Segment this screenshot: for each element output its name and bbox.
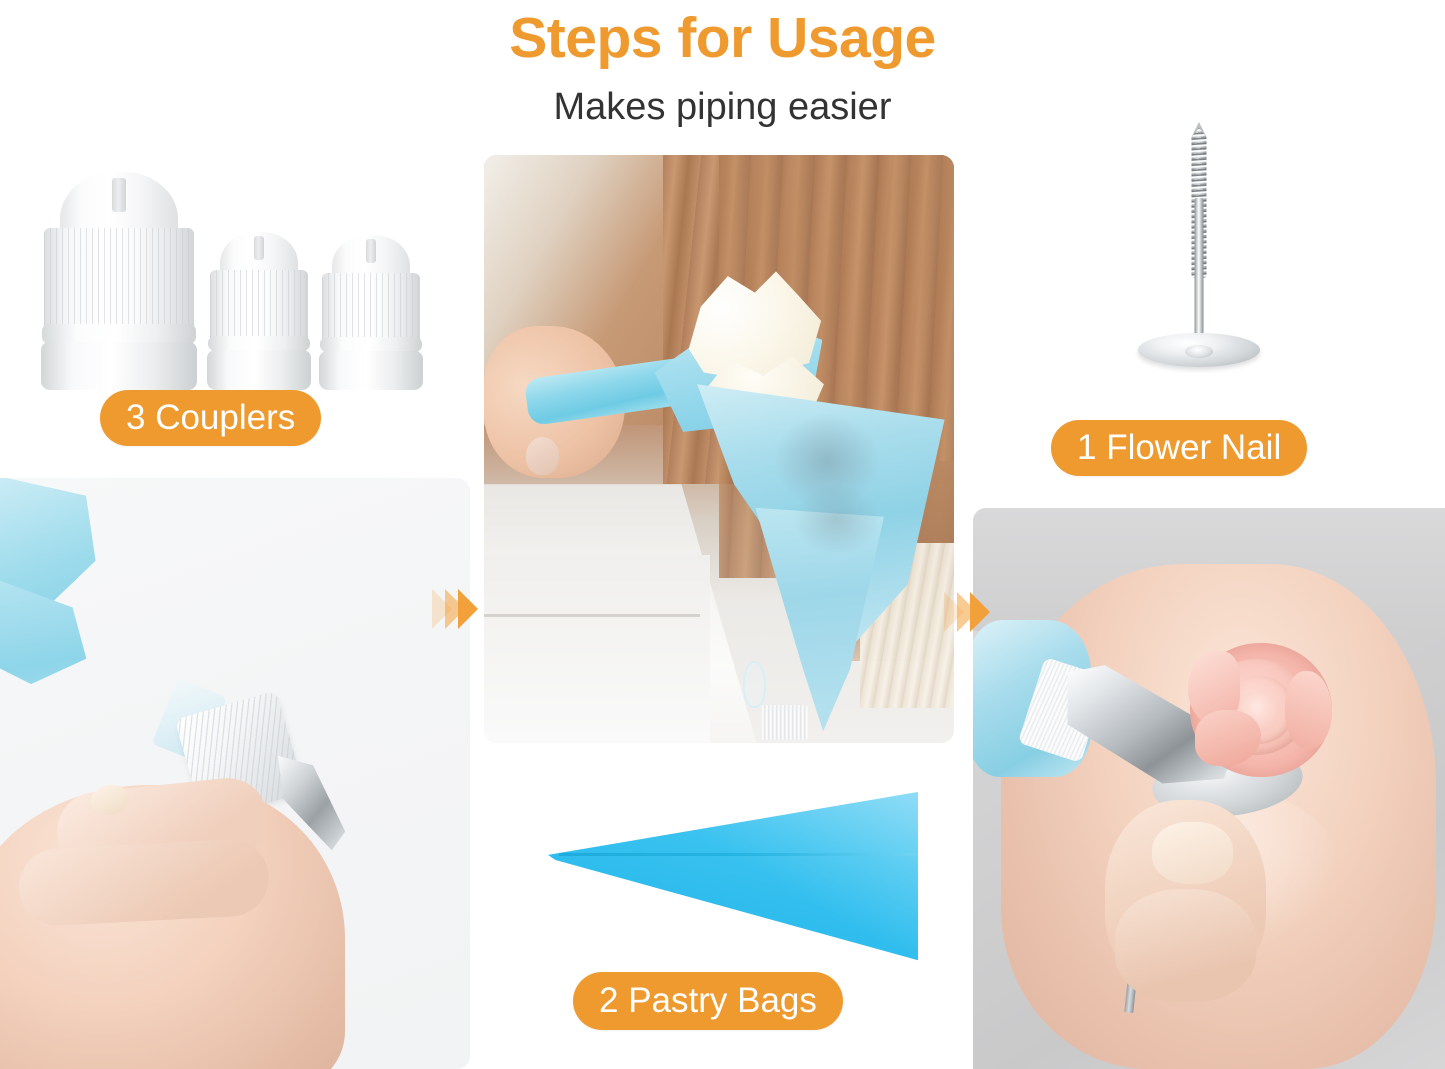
filling-bag-photo <box>484 155 954 743</box>
counter-edge-line <box>484 614 700 617</box>
rose-petal <box>1285 671 1332 750</box>
coupler-icon <box>30 150 450 390</box>
bag-hanging-loop <box>743 661 767 708</box>
badge-couplers: 3 Couplers <box>100 390 321 446</box>
flower-nail-icon <box>1113 120 1285 385</box>
chevron-right-icon <box>944 592 983 632</box>
coupler-medium <box>210 232 308 390</box>
pastry-bag-highlight <box>548 792 918 962</box>
chevron-right-icon <box>957 592 977 632</box>
infographic-root: Steps for Usage Makes piping easier <box>0 0 1445 1069</box>
badge-flower-nail: 1 Flower Nail <box>1051 420 1307 476</box>
chevron-right-icon <box>445 589 465 629</box>
bag-coupler-collar <box>761 705 808 740</box>
coupler-large <box>44 172 194 390</box>
chevron-right-icon <box>432 589 471 629</box>
flower-nail-smooth-shaft <box>1195 198 1204 350</box>
flower-nail-hub <box>1185 345 1213 358</box>
kitchen-counter-lower <box>484 555 710 743</box>
coupler-small <box>322 235 420 390</box>
pastry-bag-icon <box>548 792 918 962</box>
attach-coupler-photo <box>0 478 470 1069</box>
fingernail <box>526 437 559 475</box>
bag-shadow-lower <box>794 484 879 555</box>
thumbnail <box>1152 822 1232 884</box>
piping-rose-photo <box>973 508 1445 1069</box>
badge-pastry-bags: 2 Pastry Bags <box>573 972 843 1030</box>
index-finger <box>1115 889 1257 1001</box>
page-title: Steps for Usage <box>0 4 1445 72</box>
middle-finger <box>17 838 270 928</box>
